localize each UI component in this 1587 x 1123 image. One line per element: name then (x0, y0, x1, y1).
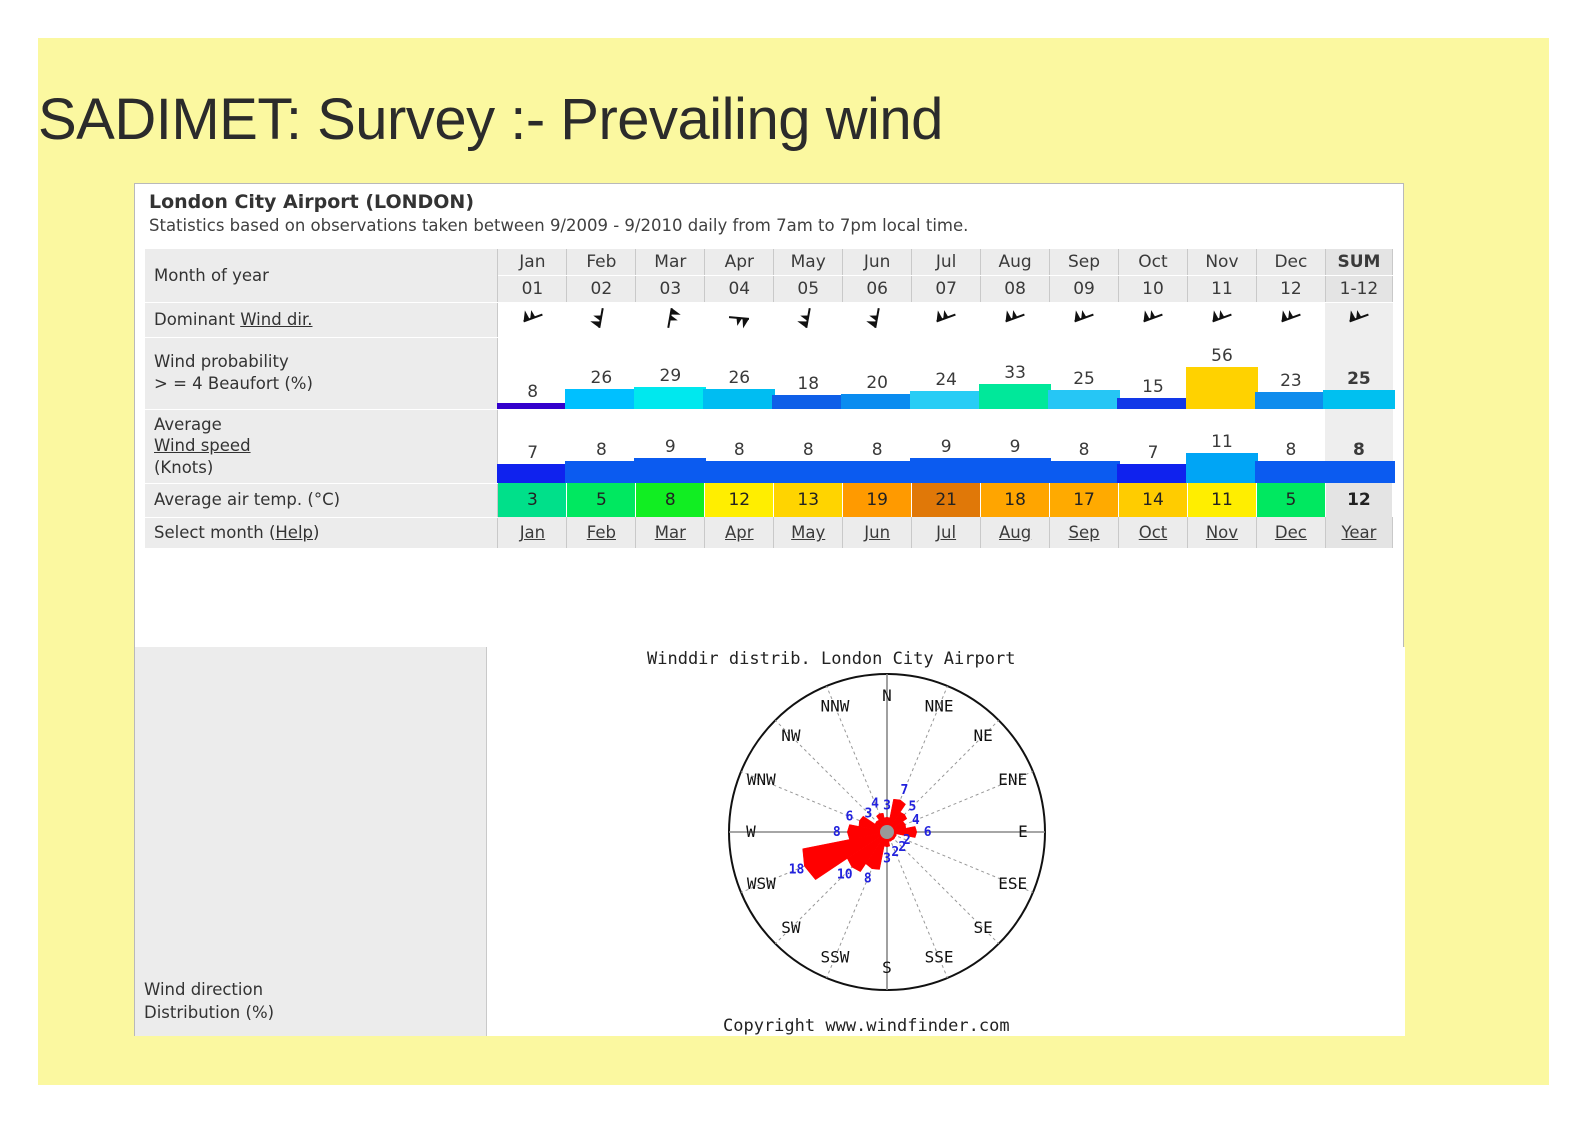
bar (634, 387, 706, 409)
wind-speed-bar-cell: 9 (636, 409, 705, 483)
sum-header: SUM (1325, 249, 1392, 276)
bar-value-label: 9 (941, 439, 952, 457)
bar (497, 403, 569, 409)
month-number: 05 (774, 276, 843, 303)
bar (1117, 398, 1189, 409)
svg-text:2: 2 (898, 840, 906, 855)
svg-text:SE: SE (974, 918, 993, 937)
svg-text:ENE: ENE (998, 770, 1027, 789)
select-month-year[interactable]: Year (1325, 517, 1392, 548)
air-temp-value: 21 (912, 483, 981, 517)
wind-dir-arrow-icon (636, 303, 705, 338)
bar-value-label: 18 (797, 376, 819, 394)
bar-value-label: 56 (1211, 348, 1233, 366)
bar-value-label: 23 (1280, 373, 1302, 391)
station-name: London City Airport (LONDON) (149, 191, 474, 213)
wind-direction-distribution-panel: Wind direction Distribution (%) (135, 647, 487, 1036)
wind-prob-bar-cell: 29 (636, 337, 705, 409)
bar-value-label: 8 (1079, 442, 1090, 460)
table-row-wind-probability: Wind probability > = 4 Beaufort (%) 8 26… (145, 337, 1393, 409)
wind-speed-bar-cell: 8 (705, 409, 774, 483)
bar (841, 461, 913, 483)
wind-dir-arrow-icon (705, 303, 774, 338)
bar (565, 389, 637, 409)
wind-prob-bar-cell: 26 (705, 337, 774, 409)
dominant-dir-text: Dominant (154, 310, 240, 329)
bar-value-label: 20 (866, 375, 888, 393)
table-row-air-temp: Average air temp. (°C) 3 5 8 12 13 19 21… (145, 483, 1393, 517)
wind-prob-bar-cell: 26 (567, 337, 636, 409)
bar-value-label: 26 (591, 370, 613, 388)
select-month-nov[interactable]: Nov (1187, 517, 1256, 548)
month-header: Aug (981, 249, 1050, 276)
wind-prob-line1: Wind probability (154, 351, 497, 373)
month-number: 01 (498, 276, 567, 303)
wind-dir-arrow-icon (1050, 303, 1119, 338)
wind-rose-svg: NNNENEENEEESESESSESSSWSWWSWWWNWNWNNW3754… (659, 665, 1219, 1020)
month-header: May (774, 249, 843, 276)
bar (1048, 390, 1120, 409)
svg-text:4: 4 (871, 796, 879, 811)
month-header: Sep (1050, 249, 1119, 276)
svg-text:6: 6 (846, 809, 854, 824)
wind-speed-link[interactable]: Wind speed (154, 436, 251, 455)
air-temp-value: 11 (1187, 483, 1256, 517)
bar (1255, 461, 1327, 483)
svg-text:SSW: SSW (821, 948, 850, 967)
wind-dir-arrow-icon (912, 303, 981, 338)
month-header: Apr (705, 249, 774, 276)
month-header: Mar (636, 249, 705, 276)
svg-text:6: 6 (924, 825, 932, 840)
bar (1186, 453, 1258, 483)
svg-text:NW: NW (781, 726, 801, 745)
bar-value-label: 25 (1073, 371, 1095, 389)
wind-prob-bar-cell: 20 (843, 337, 912, 409)
month-header: Dec (1256, 249, 1325, 276)
month-header: Jan (498, 249, 567, 276)
weather-table: Month of year Jan Feb Mar Apr May Jun Ju… (145, 249, 1393, 549)
wind-rose-copyright: Copyright www.windfinder.com (723, 1016, 1010, 1036)
air-temp-value: 5 (567, 483, 636, 517)
bar (703, 461, 775, 483)
wind-speed-bar-cell: 9 (912, 409, 981, 483)
bar (1186, 367, 1258, 409)
bar (772, 395, 844, 409)
month-number: 02 (567, 276, 636, 303)
wind-prob-bar-cell: 18 (774, 337, 843, 409)
select-month-jan[interactable]: Jan (498, 517, 567, 548)
table-row-wind-speed: Average Wind speed (Knots) 7 8 9 8 8 8 9… (145, 409, 1393, 483)
month-number: 07 (912, 276, 981, 303)
air-temp-value: 5 (1256, 483, 1325, 517)
row-label-month: Month of year (145, 249, 498, 303)
svg-text:NNE: NNE (925, 696, 954, 715)
bar (772, 461, 844, 483)
svg-text:8: 8 (864, 871, 872, 886)
month-header: Nov (1187, 249, 1256, 276)
air-temp-value: 17 (1050, 483, 1119, 517)
svg-text:S: S (882, 958, 892, 977)
svg-text:N: N (882, 686, 892, 705)
wind-speed-bar-cell: 7 (1119, 409, 1188, 483)
bar-value-label: 8 (1285, 442, 1296, 460)
bar-value-label: 9 (665, 439, 676, 457)
bar (1048, 461, 1120, 483)
bar-value-label: 11 (1211, 434, 1233, 452)
weather-panel: London City Airport (LONDON) Statistics … (134, 183, 1404, 1036)
bar (1323, 461, 1395, 483)
month-number: 04 (705, 276, 774, 303)
wind-dir-arrow-icon (843, 303, 912, 338)
wind-prob-line2: > = 4 Beaufort (%) (154, 373, 497, 395)
wind-speed-bar-cell: 8 (843, 409, 912, 483)
month-header: Jun (843, 249, 912, 276)
month-header: Jul (912, 249, 981, 276)
select-month-text: Select month ( (154, 523, 275, 542)
select-month-sep[interactable]: Sep (1050, 517, 1119, 548)
air-temp-value-sum: 12 (1325, 483, 1392, 517)
bar-value-label: 9 (1010, 439, 1021, 457)
wind-dir-arrow-icon-sum (1325, 303, 1392, 338)
wind-speed-line1: Average (154, 414, 497, 436)
slide: SADIMET: Survey :- Prevailing wind Londo… (38, 38, 1549, 1085)
wind-dir-arrow-icon (1119, 303, 1188, 338)
wd-line1: Wind direction (144, 979, 274, 1001)
wind-dir-arrow-icon (1256, 303, 1325, 338)
month-number: 12 (1256, 276, 1325, 303)
bar-value-label: 7 (527, 445, 538, 463)
bar-value-label: 8 (734, 442, 745, 460)
bar-value-label: 29 (660, 368, 682, 386)
row-label-air-temp: Average air temp. (°C) (145, 483, 498, 517)
bar (979, 384, 1051, 409)
bar (1323, 390, 1395, 409)
page-title: SADIMET: Survey :- Prevailing wind (38, 86, 943, 153)
month-number: 11 (1187, 276, 1256, 303)
air-temp-value: 14 (1119, 483, 1188, 517)
wd-line2: Distribution (%) (144, 1002, 274, 1024)
wind-speed-bar-cell: 8 (567, 409, 636, 483)
wind-prob-bar-cell-sum: 25 (1325, 337, 1392, 409)
air-temp-value: 8 (636, 483, 705, 517)
select-month-end: ) (313, 523, 319, 542)
select-month-apr[interactable]: Apr (705, 517, 774, 548)
svg-text:3: 3 (883, 799, 891, 814)
month-number: 06 (843, 276, 912, 303)
wind-dir-arrow-icon (1187, 303, 1256, 338)
table-row-select-month: Select month (Help) Jan Feb Mar Apr May … (145, 517, 1393, 548)
air-temp-value: 19 (843, 483, 912, 517)
select-month-mar[interactable]: Mar (636, 517, 705, 548)
row-label-dominant-wind-dir: Dominant Wind dir. (145, 303, 498, 338)
wind-speed-bar-cell: 7 (498, 409, 567, 483)
wind-dir-arrow-icon (981, 303, 1050, 338)
wind-speed-bar-cell: 8 (1050, 409, 1119, 483)
wind-speed-bar-cell: 8 (1256, 409, 1325, 483)
wind-speed-bar-cell: 11 (1187, 409, 1256, 483)
svg-text:WSW: WSW (747, 874, 776, 893)
air-temp-value: 13 (774, 483, 843, 517)
row-label-select-month: Select month (Help) (145, 517, 498, 548)
svg-text:ESE: ESE (998, 874, 1027, 893)
air-temp-value: 3 (498, 483, 567, 517)
bar-value-label: 8 (872, 442, 883, 460)
svg-text:SSE: SSE (925, 948, 954, 967)
svg-text:NE: NE (974, 726, 993, 745)
bar-value-label: 8 (1353, 442, 1365, 460)
bar (910, 458, 982, 483)
bar (1117, 464, 1189, 483)
month-number: 09 (1050, 276, 1119, 303)
bar-value-label: 25 (1347, 371, 1371, 389)
month-number: 08 (981, 276, 1050, 303)
wind-dir-arrow-icon (567, 303, 636, 338)
svg-text:SW: SW (781, 918, 801, 937)
select-month-jul[interactable]: Jul (912, 517, 981, 548)
bar-value-label: 26 (728, 370, 750, 388)
bar (1255, 392, 1327, 409)
wind-dir-arrow-icon (498, 303, 567, 338)
bar-value-label: 33 (1004, 365, 1026, 383)
bar (979, 458, 1051, 483)
wind-prob-bar-cell: 25 (1050, 337, 1119, 409)
wind-direction-distribution-label: Wind direction Distribution (%) (144, 979, 274, 1024)
wind-speed-bar-cell: 9 (981, 409, 1050, 483)
month-header: Feb (567, 249, 636, 276)
svg-text:10: 10 (837, 867, 853, 882)
month-header: Oct (1119, 249, 1188, 276)
select-month-oct[interactable]: Oct (1119, 517, 1188, 548)
bar-value-label: 8 (527, 384, 538, 402)
station-subtitle: Statistics based on observations taken b… (149, 216, 968, 235)
bar-value-label: 8 (803, 442, 814, 460)
wind-dir-link[interactable]: Wind dir. (240, 310, 312, 329)
bar (497, 464, 569, 483)
svg-text:4: 4 (912, 813, 920, 828)
wind-speed-line3: (Knots) (154, 457, 497, 479)
svg-text:WNW: WNW (747, 770, 776, 789)
select-month-aug[interactable]: Aug (981, 517, 1050, 548)
wind-prob-bar-cell: 15 (1119, 337, 1188, 409)
svg-text:18: 18 (789, 863, 805, 878)
bar-value-label: 15 (1142, 379, 1164, 397)
wind-speed-bar-cell: 8 (774, 409, 843, 483)
help-link[interactable]: Help (275, 523, 313, 542)
wind-dir-arrow-icon (774, 303, 843, 338)
bar-value-label: 7 (1148, 445, 1159, 463)
air-temp-value: 12 (705, 483, 774, 517)
sum-number: 1-12 (1325, 276, 1392, 303)
svg-text:8: 8 (833, 825, 841, 840)
row-label-wind-speed: Average Wind speed (Knots) (145, 409, 498, 483)
select-month-feb[interactable]: Feb (567, 517, 636, 548)
bar (634, 458, 706, 483)
wind-prob-bar-cell: 56 (1187, 337, 1256, 409)
svg-text:3: 3 (883, 851, 891, 866)
svg-text:7: 7 (900, 783, 908, 798)
svg-text:NNW: NNW (821, 696, 850, 715)
table-row-month-names: Month of year Jan Feb Mar Apr May Jun Ju… (145, 249, 1393, 276)
bar (910, 391, 982, 409)
select-month-may[interactable]: May (774, 517, 843, 548)
air-temp-value: 18 (981, 483, 1050, 517)
wind-prob-bar-cell: 33 (981, 337, 1050, 409)
wind-rose-chart: Winddir distrib. London City Airport NNN… (487, 647, 1405, 1036)
wind-prob-bar-cell: 23 (1256, 337, 1325, 409)
bar (703, 389, 775, 409)
select-month-dec[interactable]: Dec (1256, 517, 1325, 548)
wind-prob-bar-cell: 8 (498, 337, 567, 409)
table-row-dominant-wind-dir: Dominant Wind dir. (145, 303, 1393, 338)
bar (565, 461, 637, 483)
month-number: 03 (636, 276, 705, 303)
svg-text:2: 2 (891, 845, 899, 860)
bar (841, 394, 913, 409)
wind-speed-bar-cell-sum: 8 (1325, 409, 1392, 483)
wind-prob-bar-cell: 24 (912, 337, 981, 409)
bar-value-label: 8 (596, 442, 607, 460)
svg-text:E: E (1018, 822, 1028, 841)
row-label-wind-probability: Wind probability > = 4 Beaufort (%) (145, 337, 498, 409)
month-number: 10 (1119, 276, 1188, 303)
svg-text:W: W (746, 822, 756, 841)
select-month-jun[interactable]: Jun (843, 517, 912, 548)
bar-value-label: 24 (935, 372, 957, 390)
